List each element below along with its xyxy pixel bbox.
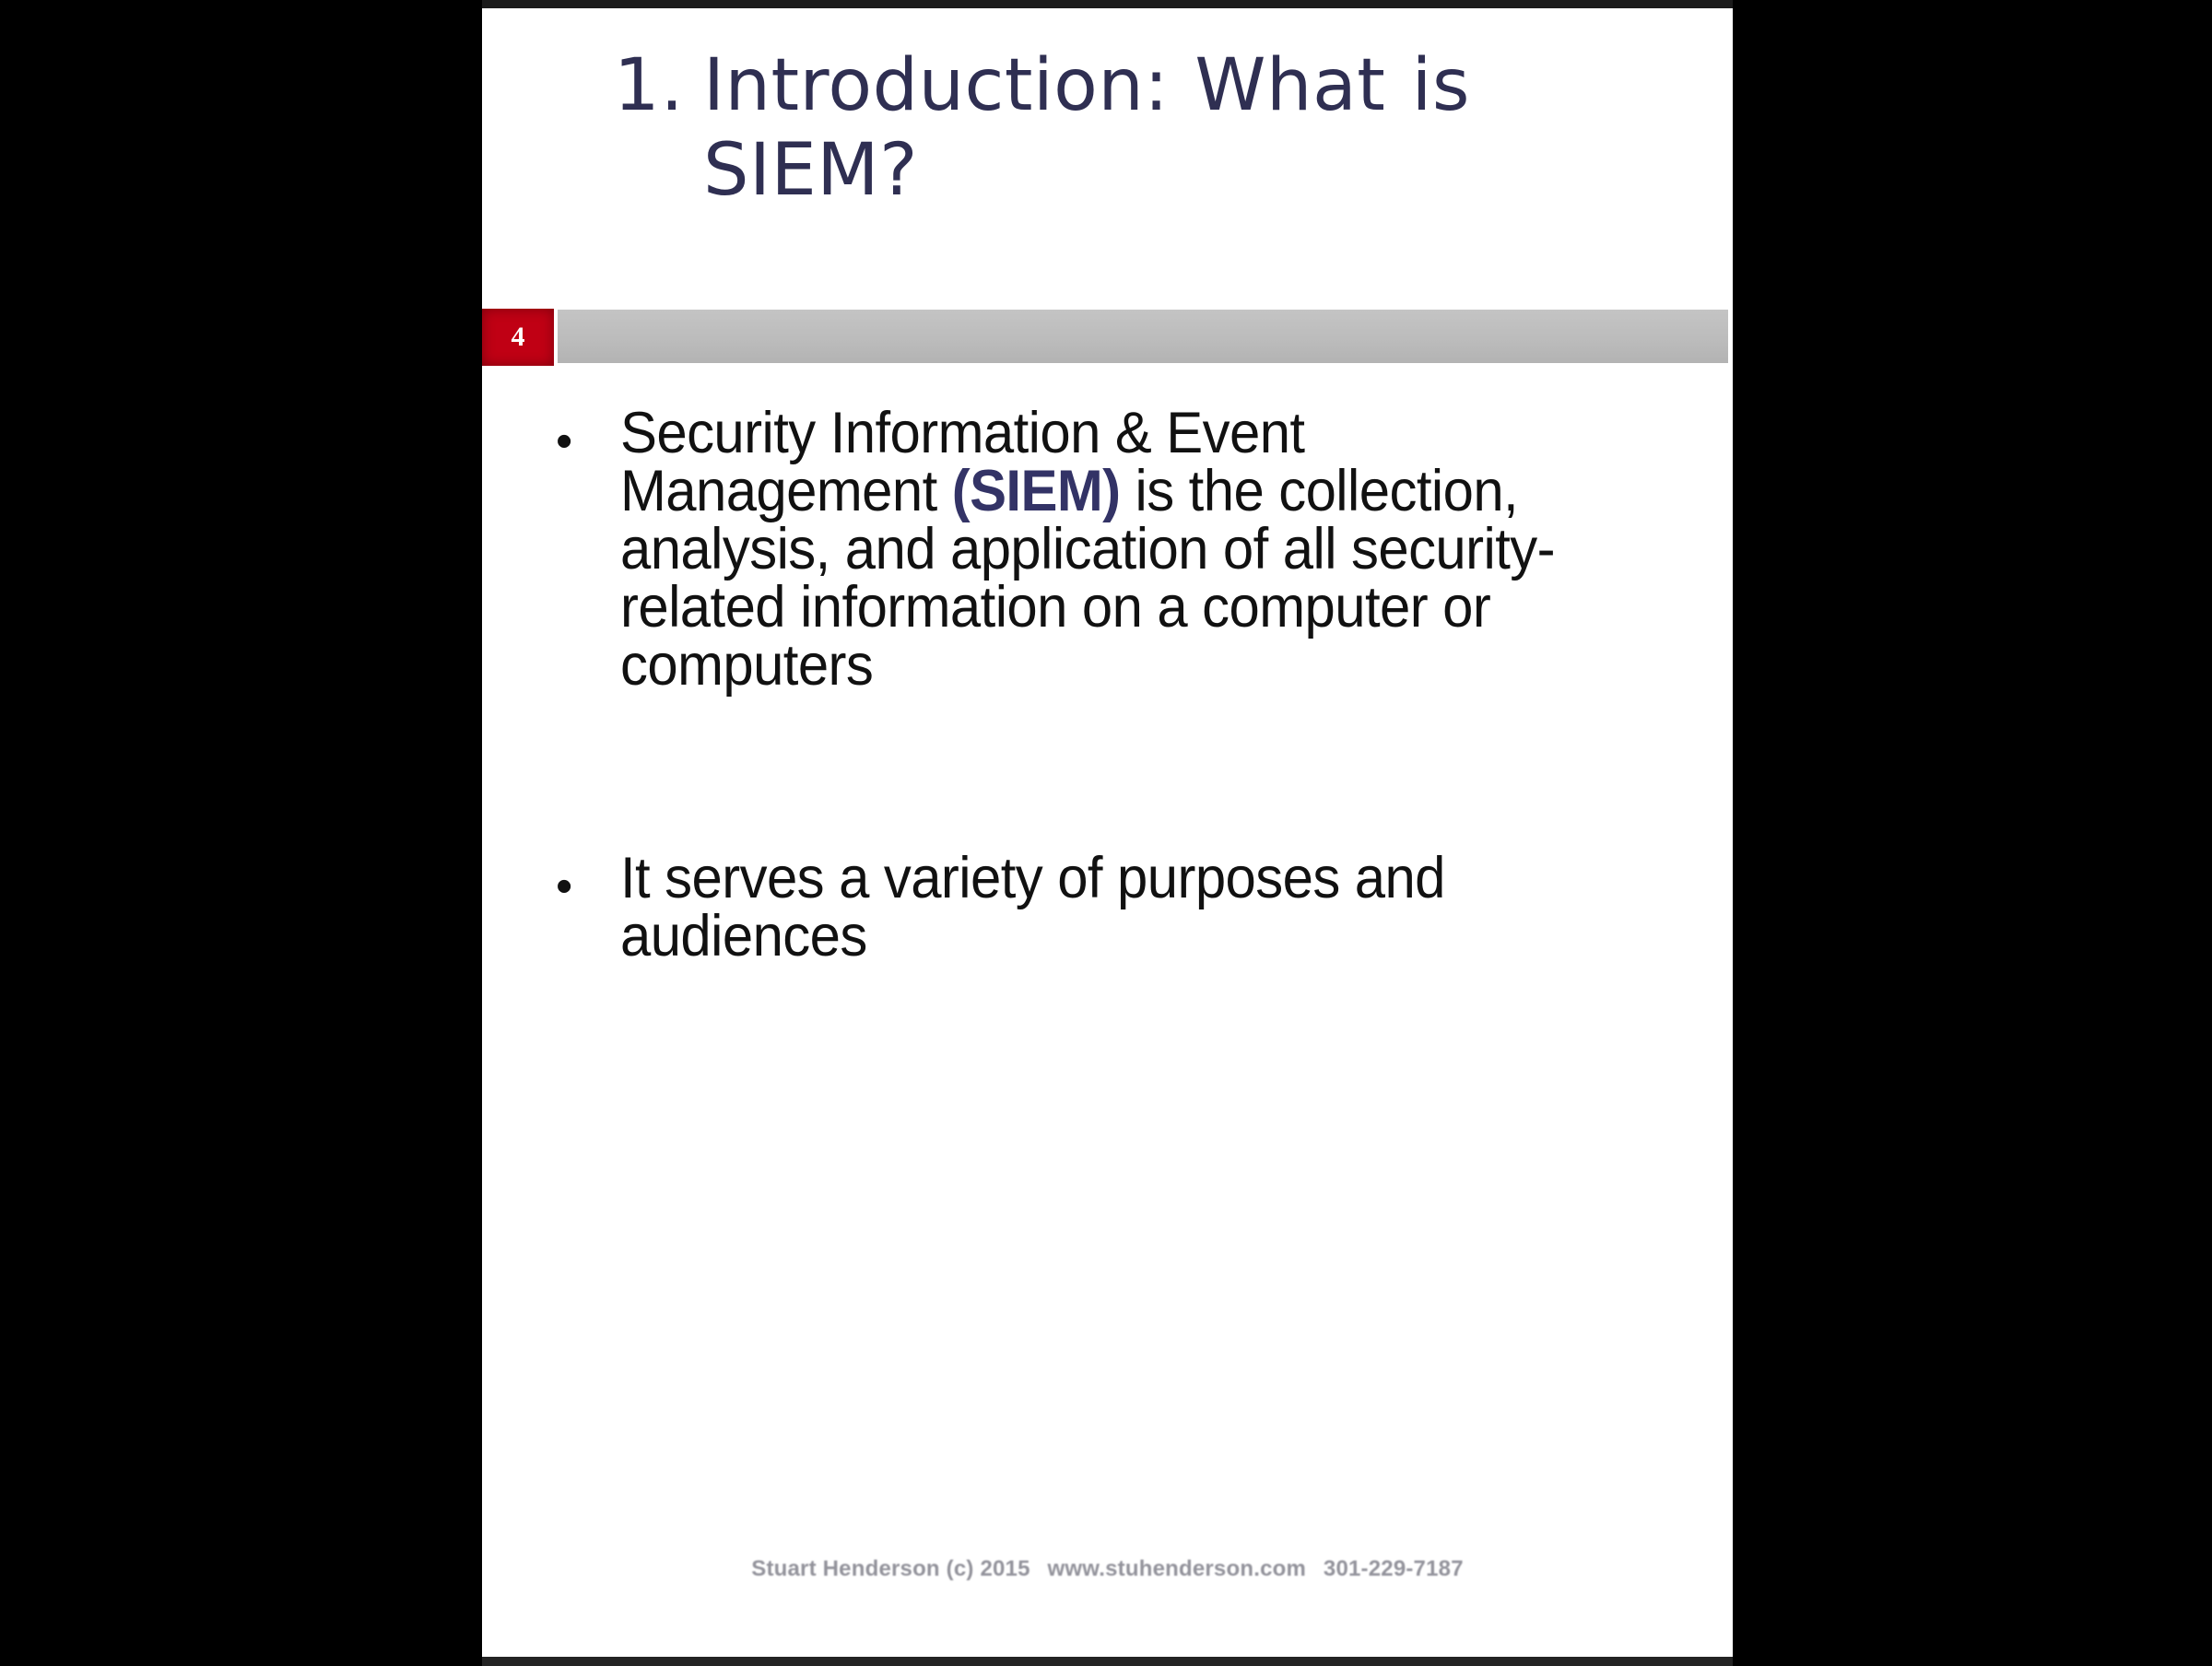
bullet-icon: • [556,850,620,915]
slide-number-badge: 4 [482,309,554,366]
presentation-slide: 1. Introduction: What is SIEM? 4 • Secur… [482,8,1733,1657]
list-item: • It serves a variety of purposes and au… [482,850,1733,966]
letterbox-stage: 1. Introduction: What is SIEM? 4 • Secur… [0,0,2212,1666]
bullet-text: It serves a variety of purposes and audi… [620,850,1628,966]
title-row: 1. Introduction: What is SIEM? [482,43,1733,213]
divider-bar [558,310,1728,363]
divider-band: 4 [482,309,1733,370]
footer-copyright: Stuart Henderson (c) 2015 [751,1556,1030,1581]
siem-acronym-emphasis: (SIEM) [952,459,1121,523]
page-title: Introduction: What is SIEM? [703,43,1622,213]
slide-body: • Security Information & Event Managemen… [482,405,1733,966]
slide-bottom-edge [482,1657,1733,1666]
bullet-text: Security Information & Event Management … [620,405,1628,695]
bullet-icon: • [556,405,620,470]
footer-phone: 301-229-7187 [1324,1556,1464,1581]
slide-footer: Stuart Henderson (c) 2015 www.stuhenders… [482,1556,1733,1582]
footer-website: www.stuhenderson.com [1048,1556,1306,1581]
slide-top-edge [482,0,1733,8]
title-number: 1. [614,43,703,128]
slide-title-block: 1. Introduction: What is SIEM? [482,43,1733,301]
list-item: • Security Information & Event Managemen… [482,405,1733,695]
